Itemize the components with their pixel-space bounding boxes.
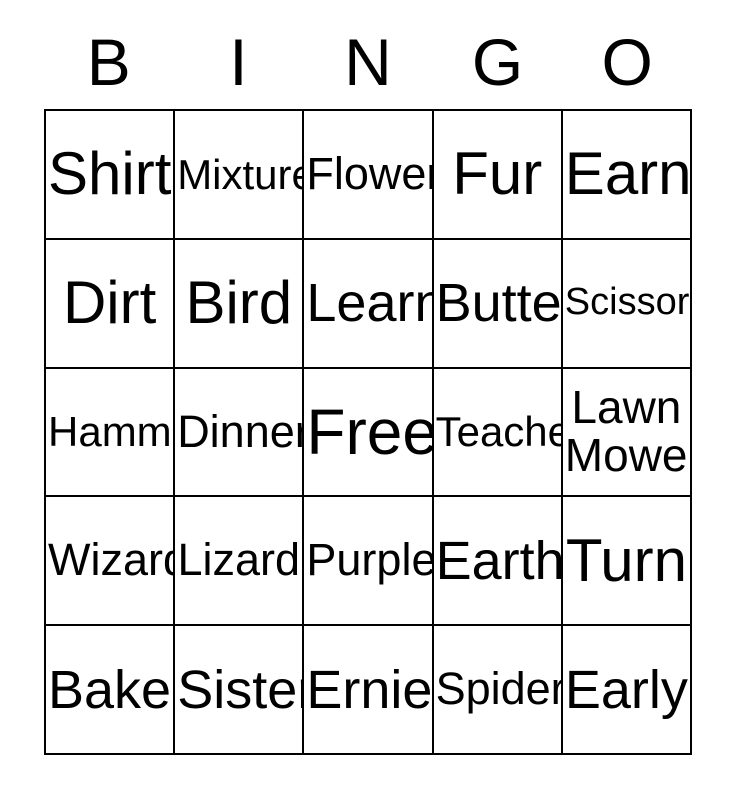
bingo-cell-label: Lawn Mower: [565, 384, 688, 480]
bingo-cell[interactable]: Scissors: [563, 240, 692, 369]
bingo-cell[interactable]: Early: [563, 626, 692, 755]
header-letter-i: I: [174, 20, 304, 109]
bingo-cell-label: Butter: [436, 275, 559, 331]
bingo-cell-label: Ernie: [306, 662, 429, 718]
bingo-cell[interactable]: Flower: [304, 111, 433, 240]
bingo-cell[interactable]: Shirt: [46, 111, 175, 240]
header-letter-b: B: [44, 20, 174, 109]
bingo-cell-label: Baker: [48, 662, 171, 718]
bingo-cell-label: Earn: [565, 143, 688, 205]
bingo-cell[interactable]: Fur: [434, 111, 563, 240]
header-letter-g: G: [433, 20, 563, 109]
bingo-cell-label: Dirt: [48, 272, 171, 334]
bingo-cell-label: Bird: [177, 272, 300, 334]
bingo-cell[interactable]: Earth: [434, 497, 563, 626]
bingo-cell[interactable]: Wizard: [46, 497, 175, 626]
bingo-cell[interactable]: Teacher: [434, 369, 563, 498]
bingo-cell-label: Sister: [177, 662, 300, 718]
bingo-cell-label: Learn: [306, 275, 429, 331]
bingo-cell[interactable]: Mixture: [175, 111, 304, 240]
bingo-cell-label: Shirt: [48, 143, 171, 205]
bingo-cell-label: Mixture: [177, 153, 300, 197]
bingo-cell-label: Fur: [436, 143, 559, 205]
bingo-cell-label: Scissors: [565, 283, 688, 323]
bingo-header-row: B I N G O: [44, 20, 692, 109]
bingo-cell[interactable]: Turn: [563, 497, 692, 626]
header-letter-o: O: [562, 20, 692, 109]
bingo-cell-label: Teacher: [436, 410, 559, 454]
bingo-grid: ShirtMixtureFlowerFurEarnDirtBirdLearnBu…: [44, 109, 692, 755]
bingo-card: B I N G O ShirtMixtureFlowerFurEarnDirtB…: [0, 0, 736, 800]
bingo-cell-label: Hammer: [48, 410, 171, 454]
bingo-cell[interactable]: Learn: [304, 240, 433, 369]
bingo-cell-label: Flower: [306, 151, 429, 198]
bingo-cell-label: Wizard: [48, 537, 171, 584]
bingo-cell[interactable]: Sister: [175, 626, 304, 755]
bingo-cell-label: Early: [565, 662, 688, 718]
bingo-cell-label: Lizard: [177, 537, 300, 584]
bingo-cell-label: Turn: [565, 530, 688, 592]
bingo-cell[interactable]: Baker: [46, 626, 175, 755]
bingo-cell[interactable]: Earn: [563, 111, 692, 240]
bingo-cell[interactable]: Hammer: [46, 369, 175, 498]
bingo-cell-label: Purple: [306, 537, 429, 584]
bingo-cell[interactable]: Bird: [175, 240, 304, 369]
bingo-cell-label: Earth: [436, 533, 559, 589]
bingo-cell-free[interactable]: Free!: [304, 369, 433, 498]
bingo-cell[interactable]: Dinner: [175, 369, 304, 498]
bingo-cell[interactable]: Lawn Mower: [563, 369, 692, 498]
bingo-cell[interactable]: Spider: [434, 626, 563, 755]
bingo-cell[interactable]: Dirt: [46, 240, 175, 369]
bingo-cell-label: Dinner: [177, 409, 300, 456]
header-letter-n: N: [303, 20, 433, 109]
bingo-cell[interactable]: Purple: [304, 497, 433, 626]
bingo-cell-label: Free!: [306, 399, 429, 466]
bingo-cell[interactable]: Lizard: [175, 497, 304, 626]
bingo-cell[interactable]: Ernie: [304, 626, 433, 755]
bingo-cell[interactable]: Butter: [434, 240, 563, 369]
bingo-cell-label: Spider: [436, 666, 559, 713]
